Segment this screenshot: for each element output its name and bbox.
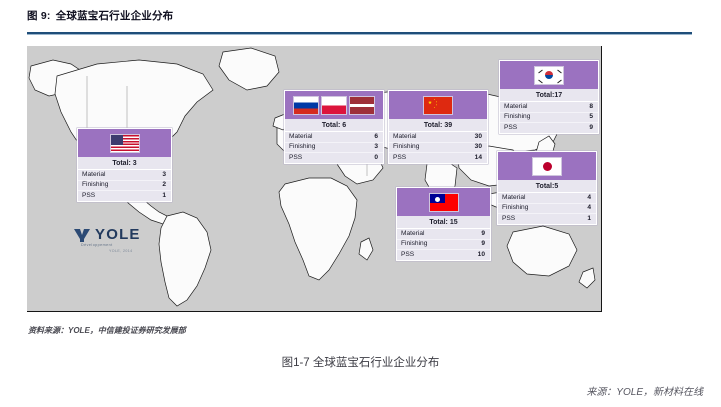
flag-pl-icon — [321, 96, 347, 115]
row-label: Material — [82, 172, 105, 179]
row-value: 4 — [587, 195, 591, 202]
total-label-taiwan: Total: 15 — [397, 216, 490, 229]
row-label: Finishing — [82, 182, 108, 189]
total-label-united-states: Total: 3 — [78, 157, 171, 170]
row-label: PSS — [401, 252, 414, 259]
flag-cn-icon — [423, 96, 453, 115]
source-note-left: 资料来源：YOLE，中信建投证券研究发展部 — [28, 325, 186, 336]
country-card-south-korea[interactable]: Total:17 Material 8 Finishing 5 PSS 9 — [499, 60, 599, 134]
row-value: 30 — [475, 134, 482, 141]
row-value: 5 — [589, 114, 593, 121]
row-value: 0 — [374, 155, 378, 162]
row-label: PSS — [82, 193, 95, 200]
row-pss: PSS 14 — [389, 153, 487, 163]
country-card-japan[interactable]: Total:5 Material 4 Finishing 4 PSS 1 — [497, 151, 597, 225]
row-value: 1 — [162, 193, 166, 200]
flag-strip-china — [389, 91, 487, 119]
rows-taiwan: Material 9 Finishing 9 PSS 10 — [397, 229, 490, 260]
row-value: 6 — [374, 134, 378, 141]
page-title: 图 9: 全球蓝宝石行业企业分布 — [27, 8, 687, 23]
row-pss: PSS 0 — [285, 153, 383, 163]
flag-tw-icon — [429, 193, 459, 212]
row-value: 3 — [162, 172, 166, 179]
flag-strip-south-korea — [500, 61, 598, 89]
rows-china: Material 30 Finishing 30 PSS 14 — [389, 132, 487, 163]
rows-japan: Material 4 Finishing 4 PSS 1 — [498, 193, 596, 224]
row-pss: PSS 1 — [498, 214, 596, 224]
row-value: 3 — [374, 144, 378, 151]
row-label: Material — [502, 195, 525, 202]
row-value: 9 — [481, 231, 485, 238]
total-label-south-korea: Total:17 — [500, 89, 598, 102]
row-material: Material 30 — [389, 132, 487, 143]
flag-kr-icon — [534, 66, 564, 85]
row-value: 10 — [478, 252, 485, 259]
row-label: Material — [393, 134, 416, 141]
yole-tagline: Développement — [81, 243, 113, 247]
header-divider-shadow — [27, 34, 692, 35]
rows-south-korea: Material 8 Finishing 5 PSS 9 — [500, 102, 598, 133]
yole-tagline-secondary: YOLE, 2014 — [109, 249, 133, 253]
row-pss: PSS 1 — [78, 191, 171, 201]
total-label-europe: Total: 6 — [285, 119, 383, 132]
row-label: Material — [401, 231, 424, 238]
flag-ru-icon — [293, 96, 319, 115]
row-value: 8 — [589, 104, 593, 111]
row-label: Finishing — [502, 205, 528, 212]
flag-lv-icon — [349, 96, 375, 115]
yole-logo: YOLE Développement YOLE, 2014 — [73, 226, 165, 260]
country-card-united-states[interactable]: Total: 3 Material 3 Finishing 2 PSS 1 — [77, 128, 172, 202]
row-material: Material 9 — [397, 229, 490, 240]
flag-strip-taiwan — [397, 188, 490, 216]
row-value: 30 — [475, 144, 482, 151]
row-label: Finishing — [401, 241, 427, 248]
row-label: Finishing — [504, 114, 530, 121]
flag-strip-united-states — [78, 129, 171, 157]
row-label: Finishing — [393, 144, 419, 151]
row-value: 2 — [162, 182, 166, 189]
flag-jp-icon — [532, 157, 562, 176]
row-pss: PSS 10 — [397, 250, 490, 260]
row-finishing: Finishing 4 — [498, 204, 596, 215]
flag-us-icon — [110, 134, 140, 153]
row-label: PSS — [504, 125, 517, 132]
rows-europe: Material 6 Finishing 3 PSS 0 — [285, 132, 383, 163]
row-label: Material — [289, 134, 312, 141]
row-value: 4 — [587, 205, 591, 212]
row-finishing: Finishing 3 — [285, 143, 383, 154]
row-label: Material — [504, 104, 527, 111]
row-value: 9 — [589, 125, 593, 132]
row-value: 14 — [475, 155, 482, 162]
row-value: 1 — [587, 216, 591, 223]
flag-strip-europe — [285, 91, 383, 119]
row-material: Material 8 — [500, 102, 598, 113]
figure-title: 全球蓝宝石行业企业分布 — [56, 10, 174, 22]
rows-united-states: Material 3 Finishing 2 PSS 1 — [78, 170, 171, 201]
row-pss: PSS 9 — [500, 123, 598, 133]
source-note-right: 来源：YOLE，新材料在线 — [586, 383, 703, 398]
row-label: Finishing — [289, 144, 315, 151]
row-finishing: Finishing 30 — [389, 143, 487, 154]
yole-wordmark: YOLE — [95, 226, 141, 243]
figure-number: 图 9: — [27, 10, 51, 22]
row-label: PSS — [289, 155, 302, 162]
total-label-japan: Total:5 — [498, 180, 596, 193]
country-card-china[interactable]: Total: 39 Material 30 Finishing 30 PSS 1… — [388, 90, 488, 164]
total-label-china: Total: 39 — [389, 119, 487, 132]
world-map-panel: YOLE Développement YOLE, 2014 Total: 3 M… — [27, 46, 602, 312]
figure-caption: 图1-7 全球蓝宝石行业企业分布 — [0, 354, 721, 370]
row-material: Material 3 — [78, 170, 171, 181]
row-value: 9 — [481, 241, 485, 248]
row-material: Material 6 — [285, 132, 383, 143]
row-finishing: Finishing 9 — [397, 240, 490, 251]
row-material: Material 4 — [498, 193, 596, 204]
row-finishing: Finishing 2 — [78, 181, 171, 192]
row-label: PSS — [393, 155, 406, 162]
row-label: PSS — [502, 216, 515, 223]
yole-logo-mark — [73, 228, 91, 243]
country-card-taiwan[interactable]: Total: 15 Material 9 Finishing 9 PSS 10 — [396, 187, 491, 261]
country-card-russia-poland-latvia[interactable]: Total: 6 Material 6 Finishing 3 PSS 0 — [284, 90, 384, 164]
row-finishing: Finishing 5 — [500, 113, 598, 124]
flag-strip-japan — [498, 152, 596, 180]
